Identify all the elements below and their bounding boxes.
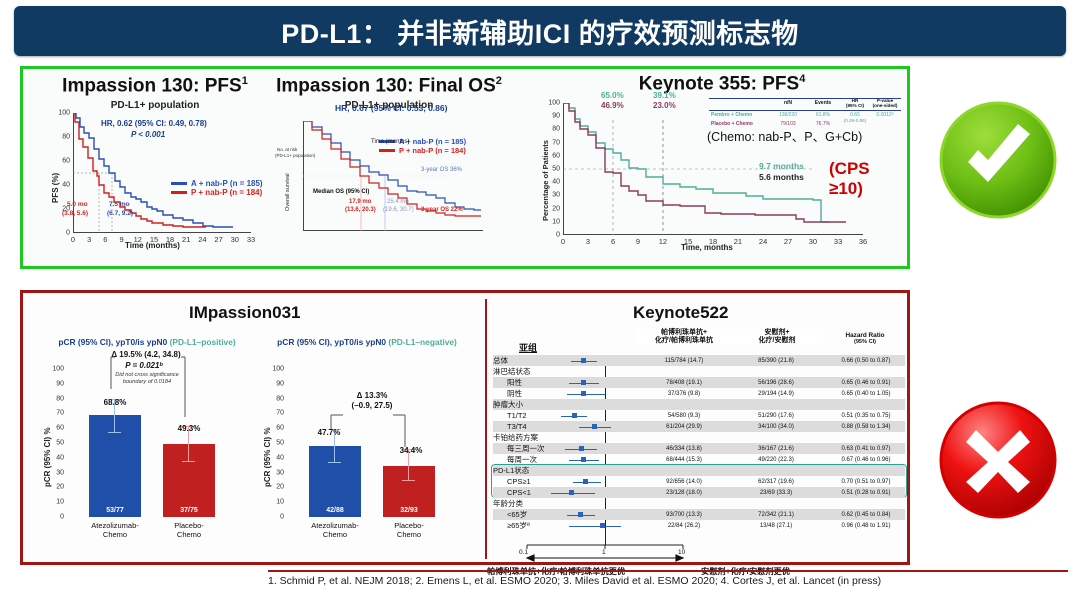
forest-row-arm1: 93/700 (13.3) <box>641 512 727 518</box>
y-tick: 0 <box>556 232 560 239</box>
x-axis-caption-os <box>373 238 375 244</box>
table-row: <65岁 93/700 (13.3) 72/342 (21.1) 0.62 (0… <box>493 509 905 520</box>
legend-label: P + nab-P (n = 184) <box>399 146 466 155</box>
bar-value-atezolizumab-positive: 68.8% <box>89 398 141 407</box>
forest-row-hr: 0.51 (0.35 to 0.75) <box>823 413 909 419</box>
footer-divider <box>268 570 1068 572</box>
x-tick: 27 <box>214 235 222 244</box>
median-red-ci: (3.8, 5.6) <box>62 210 88 217</box>
forest-marker <box>581 358 586 363</box>
x-axis-label-os: Time (months) <box>371 139 409 145</box>
x-tick: 6 <box>103 235 107 244</box>
y-tick: 10 <box>276 499 284 506</box>
legend-item: P + nab-P (n = 184) <box>379 146 466 155</box>
forest-row-hr: 0.62 (0.45 to 0.84) <box>823 512 909 518</box>
x-tick: 21 <box>734 237 742 246</box>
x-tick: 36 <box>859 237 867 246</box>
y-tick: 80 <box>56 395 64 402</box>
forest-row-arm2: 13/48 (27.1) <box>733 523 819 529</box>
cps-note: (CPS ≥10) <box>829 159 903 199</box>
table-row-arm1-label: Pembro + Chemo <box>711 112 752 118</box>
table-row: PD-L1状态 <box>493 465 905 476</box>
error-cap-bottom <box>182 461 195 462</box>
legend-label: P + nab-P (n = 184) <box>191 188 262 197</box>
risk-table-label: No. at risk <box>277 147 297 152</box>
x-tick: 6 <box>611 237 615 246</box>
y-tick: 60 <box>276 425 284 432</box>
forest-col-arm2: 安慰剂+ 化疗/安慰剂 <box>731 329 823 345</box>
forest-marker <box>581 380 586 385</box>
bar-n-atezolizumab-positive: 53/77 <box>89 507 141 514</box>
x-axis-label-keynote355: Time, months <box>681 243 733 252</box>
median-purple: 5.6 months <box>759 172 804 182</box>
forest-row-label: 肿瘤大小 <box>493 399 523 410</box>
chart-title-keynote355: Keynote 355: PFS4 <box>541 73 903 95</box>
table-row: 年龄分类 <box>493 498 905 509</box>
three-year-os-red: 3-year OS 22% <box>421 207 463 213</box>
forest-row-hr: 0.63 (0.41 to 0.97) <box>823 446 909 452</box>
table-row: T1/T2 54/580 (9.3) 51/290 (17.6) 0.51 (0… <box>493 410 905 421</box>
forest-row-hr: 0.88 (0.58 to 1.34) <box>823 424 909 430</box>
forest-axis-tick-1: 1 <box>602 549 606 556</box>
barchart-title-negative: pCR (95% CI), ypT0/is ypN0 (PD-L1–negati… <box>259 337 475 347</box>
km-plot-os: HR, 0.67 (95% CI: 0.53, 0.86) A + nab-P … <box>303 121 483 231</box>
p-value-annotation: P < 0.001 <box>131 130 165 139</box>
forest-row-arm2: 62/317 (19.6) <box>733 479 819 485</box>
x-tick: 12 <box>659 237 667 246</box>
forest-marker <box>578 512 583 517</box>
table-row: 总体 115/784 (14.7) 85/390 (21.8) 0.66 (0.… <box>493 355 905 366</box>
y-tick: 10 <box>56 499 64 506</box>
forest-row-arm2: 49/220 (22.3) <box>733 457 819 463</box>
forest-row-label: PD-L1状态 <box>493 465 529 476</box>
error-cap-bottom <box>108 432 121 433</box>
legend-item: P + nab-P (n = 184) <box>171 188 263 197</box>
y-tick: 20 <box>552 205 560 212</box>
x-tick: 0 <box>71 235 75 244</box>
barchart-plot-positive: 100 90 80 70 60 50 40 30 20 10 0 <box>67 369 229 517</box>
x-tick: 3 <box>586 237 590 246</box>
x-tick: 9 <box>120 235 124 244</box>
y-tick: 40 <box>276 454 284 461</box>
page-title: PD-L1： 并非新辅助ICI 的疗效预测标志物 <box>281 12 799 51</box>
median-green: 9.7 months <box>759 161 804 171</box>
chemo-note: (Chemo: nab-P、P、G+Cb) <box>707 126 862 145</box>
median-red-label: 5.0 mo <box>67 201 88 208</box>
y-tick: 50 <box>552 166 560 173</box>
forest-axis-tick-10: 10 <box>678 549 685 556</box>
y-tick: 70 <box>276 410 284 417</box>
y-tick: 90 <box>276 380 284 387</box>
y-tick: 40 <box>62 182 70 189</box>
y-tick: 60 <box>56 425 64 432</box>
x-tick: 30 <box>231 235 239 244</box>
forest-row-hr: 0.65 (0.40 to 1.05) <box>823 391 909 397</box>
keynote522-title: Keynote522 <box>633 303 728 323</box>
check-mark-icon <box>938 100 1058 220</box>
forest-row-label: T3/T4 <box>493 422 527 431</box>
forest-row-label: ≥65岁ª <box>493 520 530 531</box>
bar-value-atezolizumab-negative: 47.7% <box>303 428 355 437</box>
forest-col-arm2-line2: 化疗/安慰剂 <box>731 337 823 345</box>
bar-label-line1: Placebo- <box>369 521 449 530</box>
table-row: 每周一次 68/444 (15.3) 49/220 (22.3) 0.67 (0… <box>493 454 905 465</box>
y-tick: 100 <box>548 100 560 107</box>
table-row: CPS≥1 92/656 (14.0) 62/317 (19.6) 0.70 (… <box>493 476 905 487</box>
chart-impassion130-os: Impassion 130: Final OS2 PD-L1+ populati… <box>273 75 505 265</box>
legend-label: A + nab-P (n = 185) <box>191 179 263 188</box>
table-row: 卡铂给药方案 <box>493 432 905 443</box>
y-tick: 100 <box>272 366 284 373</box>
rate-6mo-purple: 46.9% <box>601 101 624 110</box>
forest-row-arm2: 29/194 (14.9) <box>733 391 819 397</box>
chart-title-impassion130-os: Impassion 130: Final OS2 <box>273 75 505 97</box>
error-cap-bottom <box>402 480 415 481</box>
y-tick: 60 <box>552 152 560 159</box>
bar-label-placebo-negative: Placebo- Chemo <box>369 521 449 539</box>
hr-annotation-os: HR, 0.67 (95% CI: 0.53, 0.86) <box>335 103 447 113</box>
bar-label-line2: Chemo <box>149 530 229 539</box>
forest-row-label: 阴性 <box>493 388 522 399</box>
table-row: ≥65岁ª 22/84 (26.2) 13/48 (27.1) 0.96 (0.… <box>493 520 905 531</box>
forest-row-label: 阳性 <box>493 377 522 388</box>
bar-label-line2: Chemo <box>295 530 375 539</box>
table-row-arm1-pvalue: 0.0012ª <box>867 112 903 118</box>
y-tick: 50 <box>276 440 284 447</box>
table-row: 肿瘤大小 <box>493 399 905 410</box>
y-tick: 20 <box>56 484 64 491</box>
forest-row-label: <65岁 <box>493 509 527 520</box>
hr-annotation: HR, 0.62 (95% CI: 0.49, 0.78) <box>101 119 207 128</box>
median-os-blue-ci: (19.6, 30.7) <box>383 207 414 213</box>
bar-label-atezolizumab-positive: Atezolizumab- Chemo <box>75 521 155 539</box>
forest-col-hr-line2: (95% CI) <box>821 339 909 345</box>
forest-marker <box>600 523 605 528</box>
table-row: 阴性 37/376 (9.8) 29/194 (14.9) 0.65 (0.40… <box>493 388 905 399</box>
bar-n-atezolizumab-negative: 42/88 <box>309 507 361 514</box>
x-tick: 21 <box>182 235 190 244</box>
bar-value-placebo-positive: 49.3% <box>163 424 215 433</box>
bar-label-line1: Atezolizumab- <box>75 521 155 530</box>
forest-row-label: 每三周一次 <box>493 443 545 454</box>
y-tick: 40 <box>552 179 560 186</box>
forest-row-arm1: 46/334 (13.8) <box>641 446 727 452</box>
forest-row-label: T1/T2 <box>493 411 527 420</box>
x-tick: 24 <box>759 237 767 246</box>
median-os-red: 17.9 mo <box>349 199 371 205</box>
barchart-pdl1-positive: pCR (95% CI), ypT0/is ypN0 (PD-L1–positi… <box>31 337 253 559</box>
forest-row-arm2: 72/342 (21.1) <box>733 512 819 518</box>
forest-row-hr: 0.96 (0.48 to 1.91) <box>823 523 909 529</box>
y-tick: 90 <box>56 380 64 387</box>
forest-row-label: 总体 <box>493 355 508 366</box>
barchart-title-main: pCR (95% CI), ypT0/is ypN0 <box>58 337 167 347</box>
table-row: 淋巴结状态 <box>493 366 905 377</box>
forest-marker <box>592 424 597 429</box>
median-os-red-ci: (13.6, 20.3) <box>345 207 376 213</box>
y-tick: 0 <box>60 514 64 521</box>
three-year-os-blue: 3-year OS 36% <box>421 167 462 173</box>
forest-row-arm2: 85/390 (21.8) <box>733 358 819 364</box>
forest-marker <box>583 479 588 484</box>
forest-marker <box>572 413 577 418</box>
bar-label-atezolizumab-negative: Atezolizumab- Chemo <box>295 521 375 539</box>
panel-divider <box>485 299 487 559</box>
y-tick: 20 <box>276 484 284 491</box>
check-badge <box>938 100 1058 220</box>
bar-value-placebo-negative: 34.4% <box>385 446 437 455</box>
forest-col-arm1-line2: 化疗/帕博利珠单抗 <box>635 337 733 345</box>
table-row: 每三周一次 46/334 (13.8) 36/167 (21.6) 0.63 (… <box>493 443 905 454</box>
km-plot-pfs: 100 80 60 40 20 0 0 3 6 9 12 15 18 21 24… <box>73 113 251 233</box>
forest-marker <box>581 457 586 462</box>
cross-badge <box>938 400 1058 520</box>
delta-label-positive: Δ 19.5% (4.2, 34.8) <box>71 350 221 359</box>
bottom-evidence-panel: IMpassion031 Keynote522 pCR (95% CI), yp… <box>20 290 910 565</box>
x-tick: 30 <box>809 237 817 246</box>
forest-row-arm1: 22/84 (26.2) <box>641 523 727 529</box>
forest-row-hr: 0.51 (0.28 to 0.91) <box>823 490 909 496</box>
table-rule-mid <box>709 110 901 111</box>
forest-row-arm1: 78/408 (19.1) <box>641 380 727 386</box>
top-evidence-panel: Impassion 130: PFS1 PD-L1+ population 10… <box>20 66 910 269</box>
forest-row-hr: 0.67 (0.46 to 0.96) <box>823 457 909 463</box>
chart-title-impassion130-pfs: Impassion 130: PFS1 <box>41 75 269 97</box>
forest-col-arm1: 帕博利珠单抗+ 化疗/帕博利珠单抗 <box>635 329 733 345</box>
forest-row-arm1: 37/376 (9.8) <box>641 391 727 397</box>
legend-swatch-red <box>379 149 395 152</box>
forest-col-hr-line1: Hazard Ratio <box>821 332 909 339</box>
y-tick: 0 <box>280 514 284 521</box>
y-tick: 60 <box>62 158 70 165</box>
forest-marker <box>569 490 574 495</box>
median-os-blue: 25.4 mo <box>387 199 409 205</box>
risk-table-sublabel: (PD-L1+ population) <box>275 153 315 158</box>
y-axis-label-positive: pCR (95% CI) % <box>43 427 52 487</box>
y-tick: 90 <box>552 113 560 120</box>
bar-label-line2: Chemo <box>369 530 449 539</box>
forest-ci-line <box>569 526 621 527</box>
forest-row-label: CPS<1 <box>493 488 531 497</box>
barchart-pdl1-negative: pCR (95% CI), ypT0/is ypN0 (PD-L1–negati… <box>251 337 473 559</box>
bar-n-placebo-positive: 37/75 <box>163 507 215 514</box>
table-row: CPS<1 23/128 (18.0) 23/69 (33.3) 0.51 (0… <box>493 487 905 498</box>
forest-row-arm2: 51/290 (17.6) <box>733 413 819 419</box>
legend-pfs: A + nab-P (n = 185) P + nab-P (n = 184) <box>171 179 263 197</box>
table-row: T3/T4 61/204 (29.9) 34/100 (34.0) 0.88 (… <box>493 421 905 432</box>
y-tick: 70 <box>552 139 560 146</box>
y-tick: 30 <box>276 469 284 476</box>
y-tick: 30 <box>552 192 560 199</box>
col-header-events: Events <box>805 100 841 106</box>
x-tick: 0 <box>561 237 565 246</box>
forest-row-arm1: 61/204 (29.9) <box>641 424 727 430</box>
forest-row-arm2: 36/167 (21.6) <box>733 446 819 452</box>
legend-swatch-blue <box>171 182 187 185</box>
forest-axis: 0.1 1 10 帕博利珠单抗+化疗/帕博利珠单抗更优 安慰剂+化疗/安慰剂更优 <box>493 545 905 577</box>
forest-row-arm2: 23/69 (33.3) <box>733 490 819 496</box>
forest-row-arm1: 92/656 (14.0) <box>641 479 727 485</box>
col-header-pvalue-sub: (one-sided) <box>867 103 903 108</box>
y-tick: 40 <box>56 454 64 461</box>
y-tick: 10 <box>552 218 560 225</box>
forest-row-arm1: 54/580 (9.3) <box>641 413 727 419</box>
chart-keynote355-pfs: Keynote 355: PFS4 100 90 80 70 60 50 40 … <box>511 73 903 267</box>
rate-6mo-green: 65.0% <box>601 91 624 100</box>
legend-swatch-red <box>171 191 187 194</box>
impassion031-title: IMpassion031 <box>189 303 301 323</box>
y-tick: 100 <box>52 366 64 373</box>
bar-n-placebo-negative: 32/93 <box>383 507 435 514</box>
y-tick: 50 <box>56 440 64 447</box>
barchart-title-tag: (PD-L1–negative) <box>388 337 456 347</box>
table-row-arm1-events: 61.8% <box>805 112 841 118</box>
median-blue-ci: (6.7, 9.2) <box>107 210 133 217</box>
forest-row-label: 淋巴结状态 <box>493 366 531 377</box>
forest-col-arm2-line1: 安慰剂+ <box>731 329 823 337</box>
forest-col-hr: Hazard Ratio (95% CI) <box>821 332 909 346</box>
error-cap-bottom <box>328 462 341 463</box>
y-axis-label-os: Overall survival <box>285 173 291 211</box>
barchart-title-positive: pCR (95% CI), ypT0/is ypN0 (PD-L1–positi… <box>39 337 255 347</box>
median-os-header: Median OS (95% CI) <box>313 189 369 195</box>
x-tick: 33 <box>247 235 255 244</box>
y-axis-label: PFS (%) <box>51 173 60 203</box>
forest-row-arm2: 34/100 (34.0) <box>733 424 819 430</box>
forest-row-label: CPS≥1 <box>493 477 531 486</box>
bar-label-line2: Chemo <box>75 530 155 539</box>
table-row: 阳性 78/408 (19.1) 56/196 (28.6) 0.65 (0.4… <box>493 377 905 388</box>
bar-atezolizumab-positive <box>89 415 141 517</box>
forest-marker <box>581 391 586 396</box>
forest-axis-ticks <box>493 545 905 561</box>
forest-row-hr: 0.66 (0.50 to 0.87) <box>823 358 909 364</box>
bar-label-line1: Atezolizumab- <box>295 521 375 530</box>
x-tick: 24 <box>198 235 206 244</box>
forest-row-arm1: 68/444 (15.3) <box>641 457 727 463</box>
chart-subtitle-impassion130-pfs: PD-L1+ population <box>41 100 269 111</box>
forest-row-hr: 0.65 (0.46 to 0.91) <box>823 380 909 386</box>
y-tick: 70 <box>56 410 64 417</box>
forest-col-subgroup: 亚组 <box>493 343 563 353</box>
forest-row-arm1: 115/784 (14.7) <box>641 358 727 364</box>
table-row-arm1-nn: 136/220 <box>771 112 805 118</box>
bar-label-line1: Placebo- <box>149 521 229 530</box>
y-tick: 30 <box>56 469 64 476</box>
forest-row-label: 卡铂给药方案 <box>493 432 538 443</box>
barchart-title-main: pCR (95% CI), ypT0/is ypN0 <box>277 337 386 347</box>
y-tick: 80 <box>62 134 70 141</box>
x-axis-label: Time (months) <box>125 241 180 250</box>
slide-root: PD-L1： 并非新辅助ICI 的疗效预测标志物 Impassion 130: … <box>0 0 1080 598</box>
forest-marker <box>579 446 584 451</box>
x-tick: 27 <box>784 237 792 246</box>
median-blue-label: 7.5 mo <box>109 201 130 208</box>
y-axis-label-keynote355: Percentage of Patients <box>541 140 550 221</box>
y-axis-label-negative: pCR (95% CI) % <box>263 427 272 487</box>
forest-plot-keynote522: 亚组 帕博利珠单抗+ 化疗/帕博利珠单抗 安慰剂+ 化疗/安慰剂 Hazard … <box>493 329 905 559</box>
legend-item: A + nab-P (n = 185) <box>171 179 263 188</box>
y-tick: 100 <box>58 110 70 117</box>
x-tick: 9 <box>636 237 640 246</box>
y-tick: 80 <box>552 126 560 133</box>
bar-label-placebo-positive: Placebo- Chemo <box>149 521 229 539</box>
chart-impassion130-pfs: Impassion 130: PFS1 PD-L1+ population 10… <box>41 75 269 265</box>
forest-axis-tick-01: 0.1 <box>519 549 528 556</box>
x-tick: 3 <box>87 235 91 244</box>
rate-12mo-green: 39.1% <box>653 91 676 100</box>
forest-row-label: 年龄分类 <box>493 498 523 509</box>
forest-ci-line <box>567 394 605 395</box>
barchart-plot-negative: 100 90 80 70 60 50 40 30 20 10 0 Δ 13.3%… <box>287 369 449 517</box>
slide-title-bar: PD-L1： 并非新辅助ICI 的疗效预测标志物 <box>14 6 1066 56</box>
forest-row-arm2: 56/196 (28.6) <box>733 380 819 386</box>
footer-references: 1. Schmid P, et al. NEJM 2018; 2. Emens … <box>268 575 1068 587</box>
cross-mark-icon <box>938 400 1058 520</box>
x-tick: 33 <box>834 237 842 246</box>
forest-row-hr: 0.70 (0.51 to 0.97) <box>823 479 909 485</box>
y-tick: 0 <box>66 230 70 237</box>
barchart-title-tag: (PD-L1–positive) <box>170 337 236 347</box>
forest-col-arm1-line1: 帕博利珠单抗+ <box>635 329 733 337</box>
col-header-nn: n/N <box>771 100 805 106</box>
y-tick: 80 <box>276 395 284 402</box>
forest-row-arm1: 23/128 (18.0) <box>641 490 727 496</box>
rate-12mo-purple: 23.0% <box>653 101 676 110</box>
forest-row-label: 每周一次 <box>493 454 537 465</box>
table-row-arm1-hr-ci: (0.49-0.86) <box>839 118 871 123</box>
